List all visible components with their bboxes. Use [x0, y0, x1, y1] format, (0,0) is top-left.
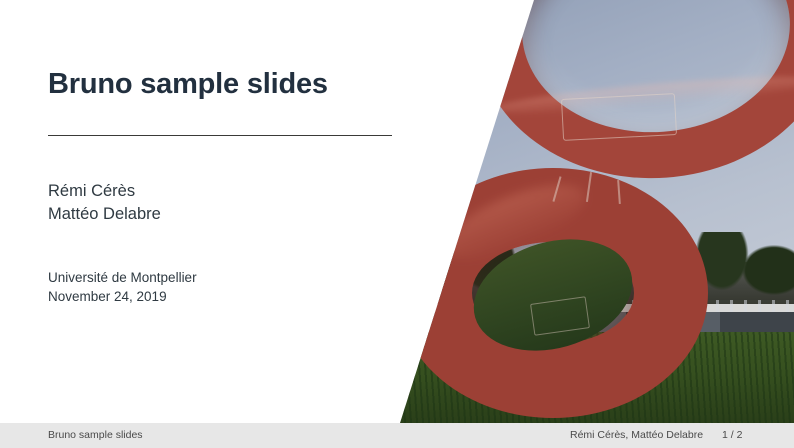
title-rule: [48, 135, 392, 136]
footer-title: Bruno sample slides: [48, 429, 143, 441]
author-name: Mattéo Delabre: [48, 203, 161, 226]
page-title: Bruno sample slides: [48, 68, 328, 101]
institute-block: Université de Montpellier November 24, 2…: [48, 268, 197, 306]
presentation-slide: Bruno sample slides Rémi Cérès Mattéo De…: [0, 0, 794, 448]
footer-page-number: 1 / 2: [722, 429, 742, 441]
institute-name: Université de Montpellier: [48, 268, 197, 287]
presentation-date: November 24, 2019: [48, 287, 197, 306]
tube-plate-marking: [561, 93, 677, 141]
footer-authors: Rémi Cérès, Mattéo Delabre: [570, 429, 703, 441]
title-photo: [380, 0, 794, 423]
author-name: Rémi Cérès: [48, 180, 161, 203]
photo-scene: [380, 0, 794, 423]
slide-footer: Bruno sample slides Rémi Cérès, Mattéo D…: [0, 423, 794, 448]
author-list: Rémi Cérès Mattéo Delabre: [48, 180, 161, 226]
